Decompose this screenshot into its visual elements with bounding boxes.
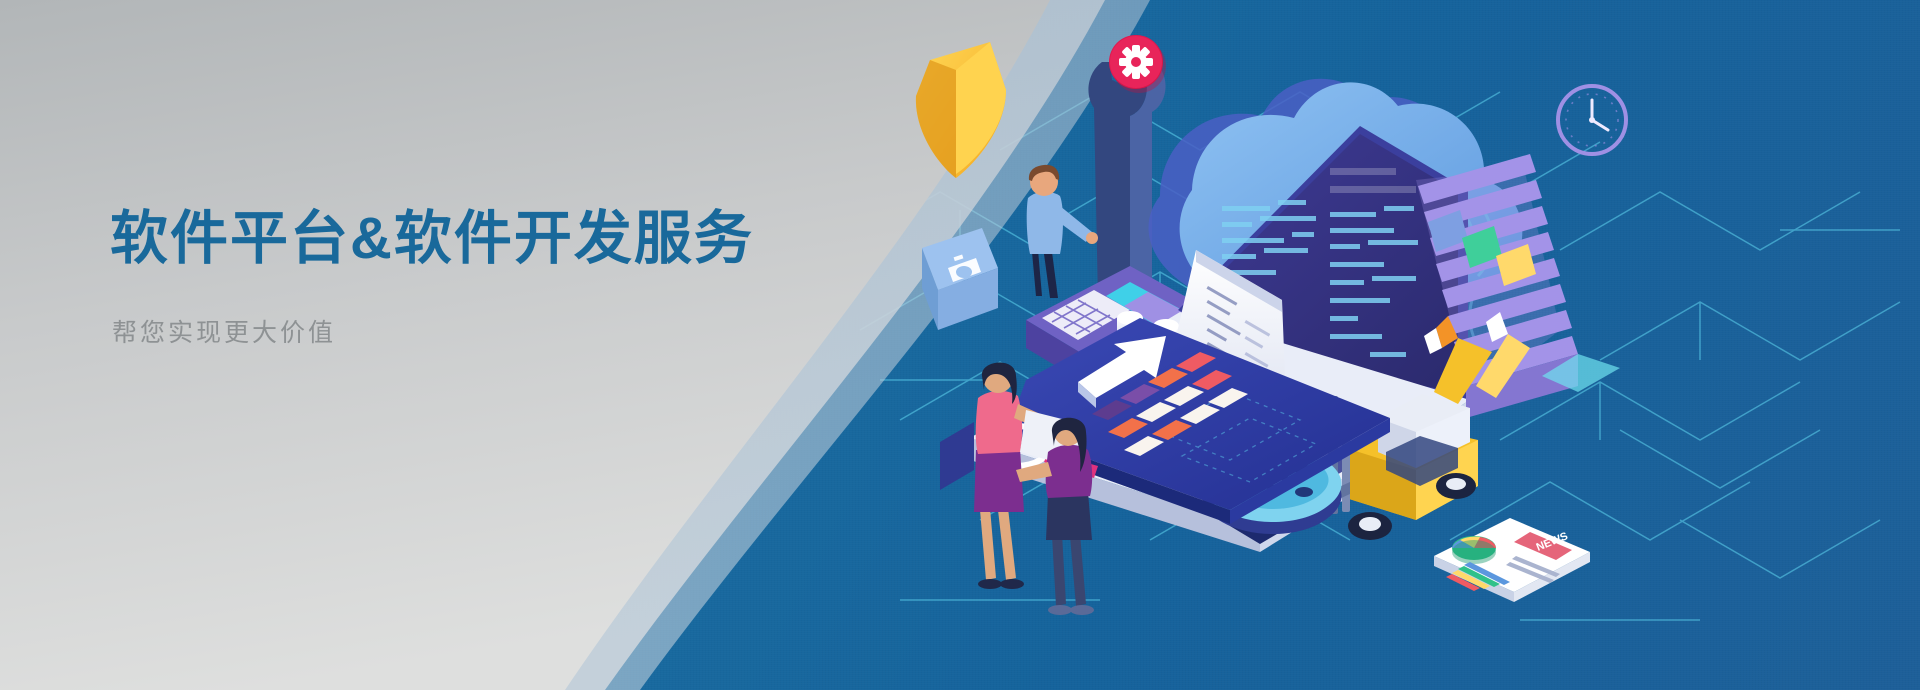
developer-figure: [1027, 165, 1098, 298]
news-card: NEWS: [1434, 518, 1590, 602]
hero-banner: 软件平台&软件开发服务 帮您实现更大价值: [0, 0, 1920, 690]
page-subtitle: 帮您实现更大价值: [112, 313, 870, 349]
hero-copy: 软件平台&软件开发服务 帮您实现更大价值: [110, 205, 870, 349]
camera-icon: [922, 228, 998, 330]
pie-chart-icon: [1452, 536, 1496, 564]
page-title: 软件平台&软件开发服务: [110, 205, 870, 273]
shield-icon: [916, 42, 1006, 178]
clock-icon: [1558, 86, 1626, 154]
hero-illustration: NEWS: [830, 0, 1920, 690]
